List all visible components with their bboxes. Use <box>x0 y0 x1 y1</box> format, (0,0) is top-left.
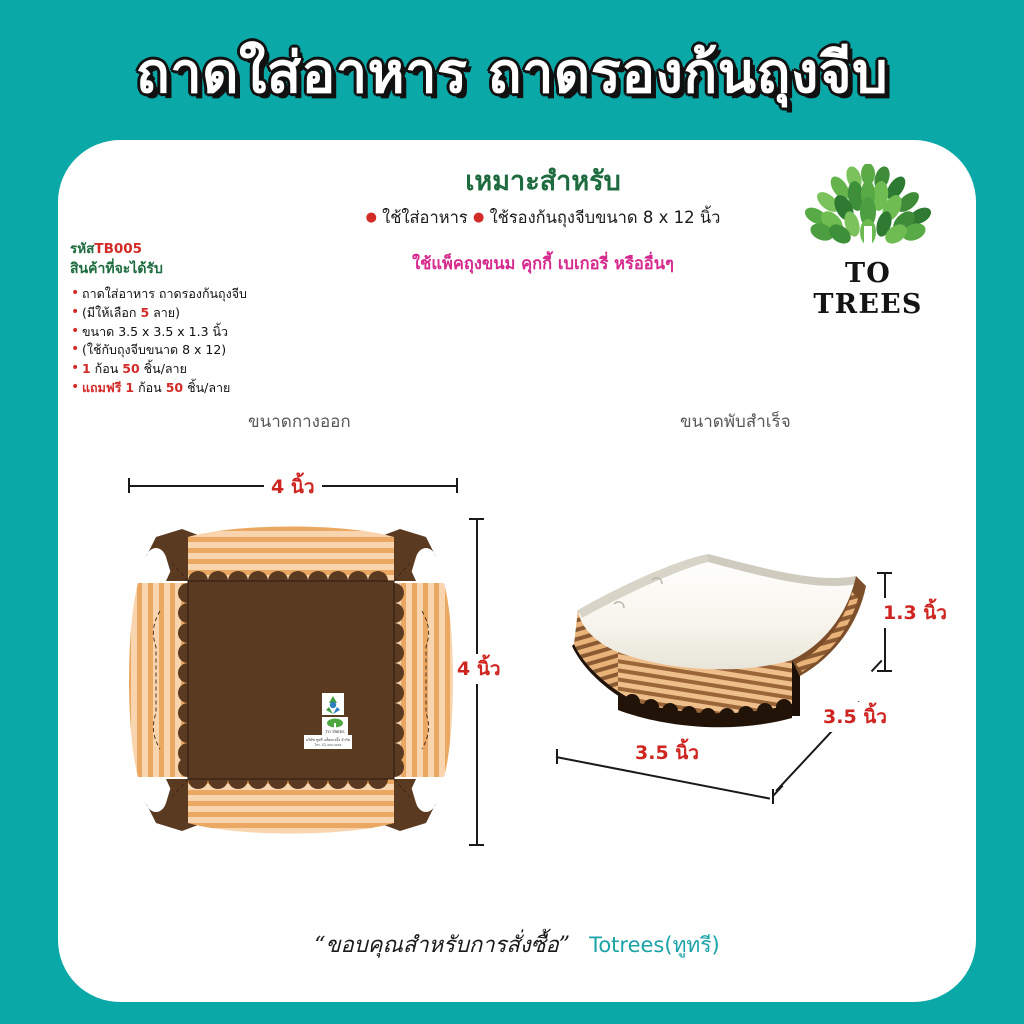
brand-logo: TO TREES <box>788 164 948 288</box>
folded-height-label: 1.3 นิ้ว <box>876 598 954 628</box>
page-title: ถาดใส่อาหาร ถาดรองก้นถุงจีบ <box>136 45 888 104</box>
mini-brand-sticker: TO TREES <box>322 717 348 735</box>
flat-width-label: 4 นิ้ว <box>264 472 322 502</box>
flat-height-cap-top <box>469 518 484 520</box>
spec-item-product: ถาดใส่อาหาร ถาดรองก้นถุงจีบ <box>70 285 328 303</box>
spec-list: ถาดใส่อาหาร ถาดรองก้นถุงจีบ (มีให้เลือก … <box>70 285 328 397</box>
flat-width-cap-left <box>128 478 130 493</box>
tree-icon <box>788 164 948 258</box>
sticker-caption: บริษัท ทูทรี แพ็คเกจจิ้ง จำกัด โทร. 02-x… <box>304 735 352 749</box>
spec-item-free: แถมฟรี 1 ก้อน 50 ชิ้น/ลาย <box>70 379 328 397</box>
tray-base <box>178 571 404 789</box>
folded-width-cap-left <box>556 749 558 764</box>
suitable-uses-line: ● ใช้ใส่อาหาร ● ใช้รองก้นถุงจีบขนาด 8 x … <box>308 205 778 231</box>
spec-item-size: ขนาด 3.5 x 3.5 x 1.3 นิ้ว <box>70 323 328 341</box>
suitable-use-1: ใช้ใส่อาหาร <box>382 208 468 227</box>
product-code-label: รหัส <box>70 241 94 257</box>
suitable-use-2: ใช้รองก้นถุงจีบขนาด 8 x 12 นิ้ว <box>490 208 721 227</box>
spec-item-quantity: 1 ก้อน 50 ชิ้น/ลาย <box>70 360 328 378</box>
folded-height-cap-bottom <box>877 670 892 672</box>
product-code-line: รหัสTB005 <box>70 240 328 259</box>
recycle-sticker <box>322 693 344 715</box>
folded-tray-artwork <box>556 540 886 770</box>
suitable-for-block: เหมาะสำหรับ ● ใช้ใส่อาหาร ● ใช้รองก้นถุง… <box>308 166 778 277</box>
flat-size-caption: ขนาดกางออก <box>248 408 351 435</box>
bullet-icon: ● <box>473 210 484 225</box>
spec-item-product-sub: (มีให้เลือก 5 ลาย) <box>70 304 328 322</box>
footer-brand-text: Totrees(ทูทรี) <box>589 933 720 957</box>
flat-width-cap-right <box>456 478 458 493</box>
suitable-heading: เหมาะสำหรับ <box>308 166 778 198</box>
spec-heading: สินค้าที่จะได้รับ <box>70 260 328 280</box>
folded-height-cap-top <box>877 572 892 574</box>
footer-thanks-text: “ขอบคุณสำหรับการสั่งซื้อ” <box>314 933 570 958</box>
flat-diecut-artwork: TO TREES บริษัท ทูทรี แพ็คเกจจิ้ง จำกัด … <box>126 515 456 845</box>
suitable-pack-text: ใช้แพ็คถุงขนม คุกกี้ เบเกอรี่ หรืออื่นๆ <box>308 251 778 277</box>
spec-item-size-sub: (ใช้กับถุงจีบขนาด 8 x 12) <box>70 341 328 359</box>
title-banner: ถาดใส่อาหาร ถาดรองก้นถุงจีบ <box>0 28 1024 120</box>
content-card: รหัสTB005 สินค้าที่จะได้รับ ถาดใส่อาหาร … <box>58 140 976 1002</box>
flat-height-label: 4 นิ้ว <box>450 654 508 684</box>
svg-text:โทร. 02-xxx-xxxx: โทร. 02-xxx-xxxx <box>314 742 341 747</box>
svg-text:TO TREES: TO TREES <box>325 730 345 734</box>
flat-height-cap-bottom <box>469 844 484 846</box>
folded-depth-label: 3.5 นิ้ว <box>816 702 894 732</box>
bullet-icon: ● <box>366 210 377 225</box>
folded-size-caption: ขนาดพับสำเร็จ <box>680 408 791 435</box>
product-code-value: TB005 <box>94 241 142 257</box>
folded-width-label: 3.5 นิ้ว <box>628 738 706 768</box>
logo-wordmark: TO TREES <box>788 258 948 320</box>
footer: “ขอบคุณสำหรับการสั่งซื้อ” Totrees(ทูทรี) <box>58 927 976 962</box>
product-spec-block: รหัสTB005 สินค้าที่จะได้รับ ถาดใส่อาหาร … <box>70 240 328 398</box>
